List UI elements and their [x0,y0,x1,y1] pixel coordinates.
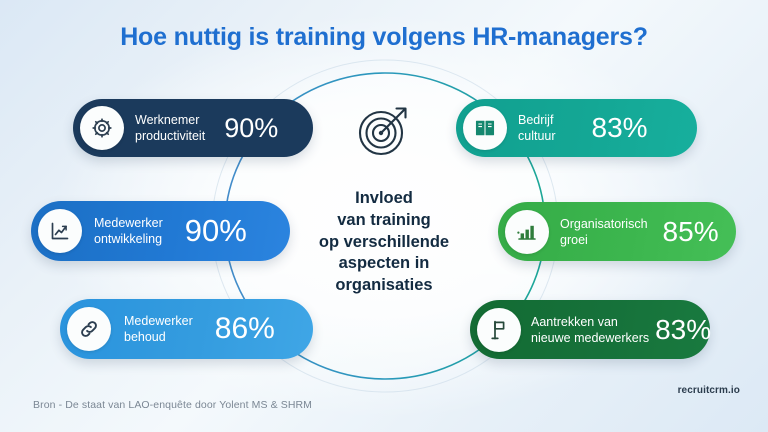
center-caption-line: van training [293,210,475,232]
stat-pill-label-line2: productiviteit [135,129,205,143]
page-title: Hoe nuttig is training volgens HR-manage… [0,23,768,52]
stat-pill-label: Medewerker ontwikkeling [94,215,163,247]
stat-pill-werknemer-productiviteit[interactable]: Werknemer productiviteit 90% [73,99,313,157]
stat-pill-label: Bedrijf cultuur [518,112,556,144]
brand-logo: recruitcrm.io [678,385,740,396]
center-caption-line: Invloed [293,188,475,210]
stat-pill-label: Aantrekken van nieuwe medewerkers [531,314,649,346]
center-caption-line: aspecten in [293,253,475,275]
stat-pill-aantrekken-nieuwe-medewerkers[interactable]: Aantrekken van nieuwe medewerkers 83% [470,300,710,359]
stat-pill-label-line1: Medewerker [124,314,193,328]
center-caption-line: op verschillende [293,232,475,254]
stat-pill-label-line1: Werknemer [135,113,199,127]
stat-pill-medewerker-behoud[interactable]: Medewerker behoud 86% [60,299,313,359]
stat-pill-label-line1: Aantrekken van [531,315,618,329]
link-icon [67,307,111,351]
stat-pill-value: 85% [663,216,719,248]
stat-pill-label-line2: groei [560,233,588,247]
stat-pill-medewerker-ontwikkeling[interactable]: Medewerker ontwikkeling 90% [31,201,290,261]
stat-pill-bedrijf-cultuur[interactable]: Bedrijf cultuur 83% [456,99,697,157]
stat-pill-label: Organisatorisch groei [560,216,648,248]
stat-pill-label-line1: Medewerker [94,216,163,230]
line-chart-icon [38,209,82,253]
stat-pill-value: 86% [215,312,275,346]
stat-pill-label-line2: cultuur [518,129,556,143]
stat-pill-value: 83% [655,314,711,346]
stat-pill-organisatorisch-groei[interactable]: Organisatorisch groei 85% [498,202,736,261]
stat-pill-label-line1: Organisatorisch [560,217,648,231]
center-caption-line: organisaties [293,275,475,297]
stat-pill-label-line2: nieuwe medewerkers [531,331,649,345]
gear-icon [80,106,124,150]
stat-pill-value: 90% [185,213,247,249]
target-icon [352,98,416,162]
flag-icon [477,308,521,352]
stat-pill-label: Werknemer productiviteit [135,112,205,144]
stat-pill-label: Medewerker behoud [124,313,193,345]
infographic-canvas: Hoe nuttig is training volgens HR-manage… [0,0,768,432]
stat-pill-value: 83% [592,112,648,144]
stat-pill-label-line2: ontwikkeling [94,232,162,246]
book-icon [463,106,507,150]
bar-chart-icon [505,210,549,254]
source-note: Bron - De staat van LAO-enquête door Yol… [33,399,312,411]
center-caption: Invloed van training op verschillende as… [293,188,475,297]
stat-pill-label-line1: Bedrijf [518,113,553,127]
stat-pill-label-line2: behoud [124,330,166,344]
stat-pill-value: 90% [224,113,278,144]
